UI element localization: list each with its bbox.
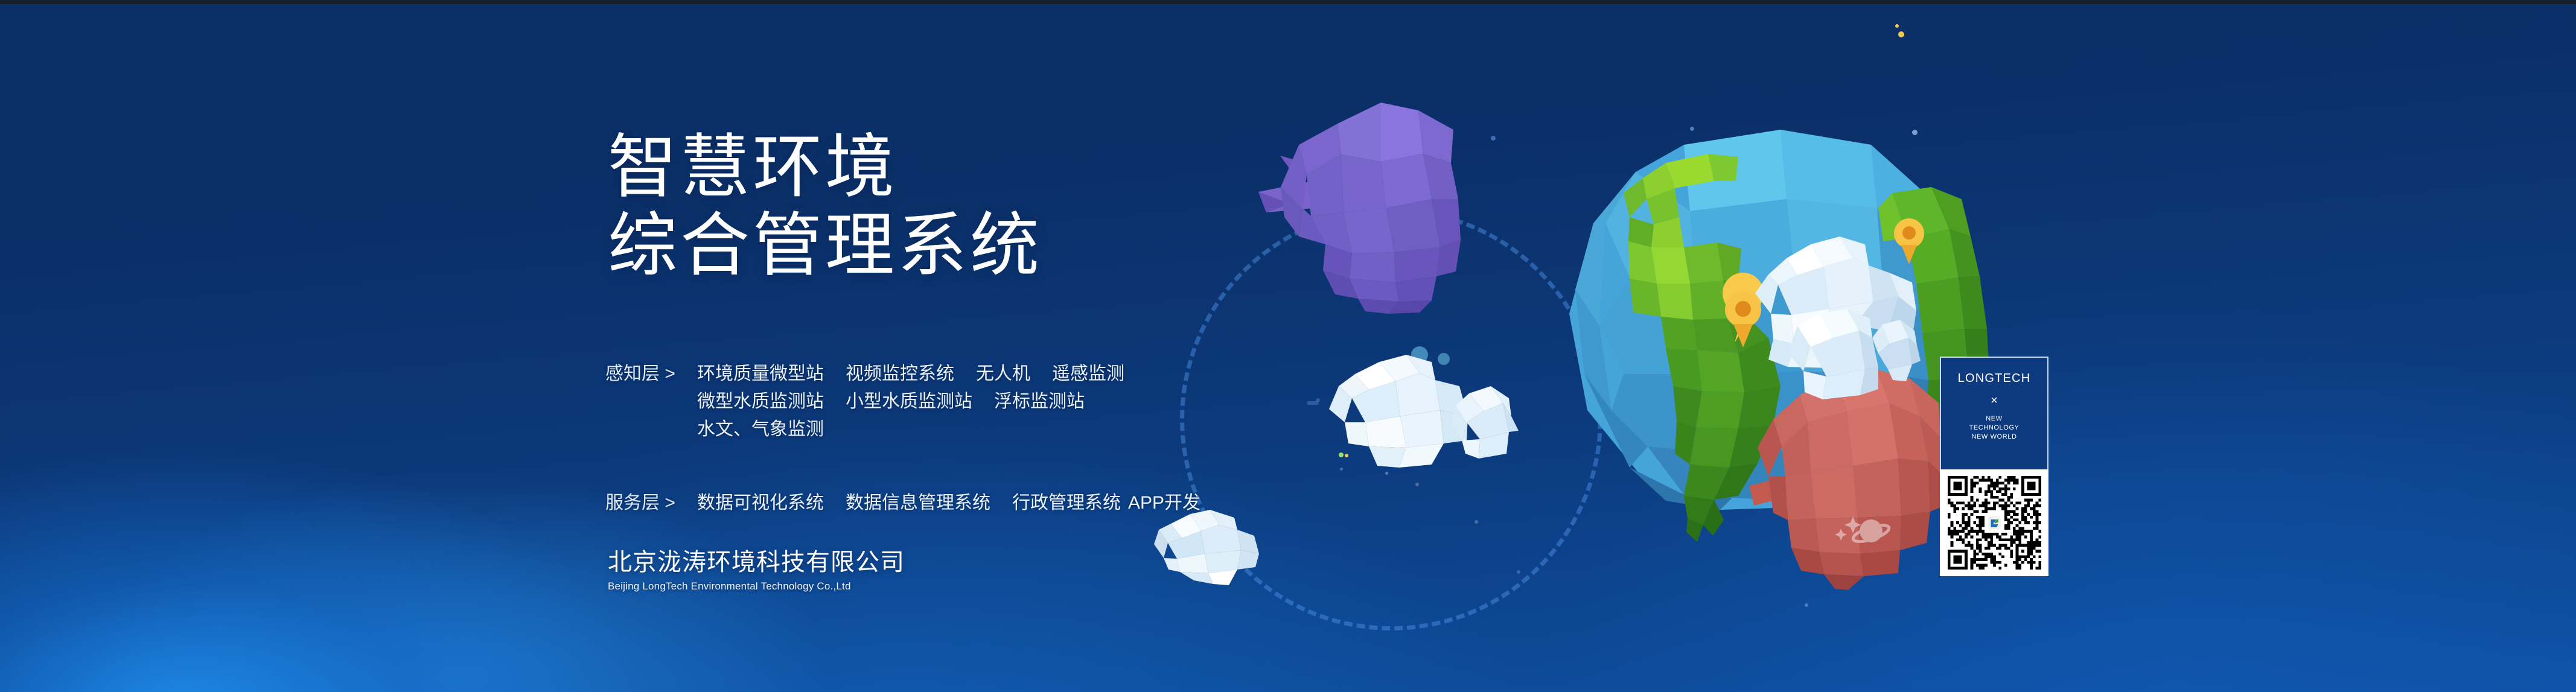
- layer-row-perception: 感知层 > 环境质量微型站 视频监控系统 无人机 遥感监测 微型水质监测站 小型…: [605, 360, 1200, 443]
- layer-item[interactable]: 遥感监测: [1052, 360, 1124, 388]
- layer-item-line: 水文、气象监测: [697, 416, 1124, 443]
- qr-code-area[interactable]: [1940, 469, 2048, 576]
- layer-item[interactable]: 数据可视化系统: [697, 489, 824, 517]
- layer-item[interactable]: 水文、气象监测: [697, 416, 824, 443]
- qr-tagline-line-3: NEW WORLD: [1969, 433, 2019, 442]
- hero-copy: 智慧环境 综合管理系统: [608, 128, 1042, 285]
- layer-item[interactable]: 数据信息管理系统: [846, 489, 990, 517]
- layer-row-service: 服务层 > 数据可视化系统 数据信息管理系统 行政管理系统 APP开发: [605, 489, 1200, 517]
- layer-items-service: 数据可视化系统 数据信息管理系统 行政管理系统 APP开发: [697, 489, 1200, 517]
- company-block: 北京泷涛环境科技有限公司 Beijing LongTech Environmen…: [608, 548, 905, 594]
- layer-item[interactable]: 浮标监测站: [994, 388, 1085, 416]
- hero-banner: 智慧环境 综合管理系统 感知层 > 环境质量微型站 视频监控系统 无人机 遥感监…: [0, 0, 2576, 692]
- layer-item[interactable]: 微型水质监测站: [697, 388, 824, 416]
- page-title-line-2: 综合管理系统: [608, 206, 1042, 285]
- page-title-line-1: 智慧环境: [608, 128, 1042, 206]
- layer-item[interactable]: 环境质量微型站: [697, 360, 824, 388]
- qr-tagline: NEW TECHNOLOGY NEW WORLD: [1969, 414, 2019, 442]
- cloud-bottom-left: [1154, 510, 1259, 585]
- layer-label-service: 服务层 >: [605, 489, 697, 517]
- purple-planet: [1258, 103, 1461, 314]
- layer-item[interactable]: 无人机: [976, 360, 1030, 388]
- qr-brand-label: LONGTECH: [1958, 371, 2031, 386]
- layer-items-perception: 环境质量微型站 视频监控系统 无人机 遥感监测 微型水质监测站 小型水质监测站 …: [697, 360, 1124, 443]
- layer-item[interactable]: 行政管理系统: [1012, 489, 1121, 517]
- qr-separator-icon: ×: [1991, 394, 1998, 407]
- company-name-cn: 北京泷涛环境科技有限公司: [608, 548, 905, 577]
- layer-item[interactable]: 视频监控系统: [846, 360, 954, 388]
- qr-tagline-line-1: NEW: [1969, 414, 2019, 424]
- layer-item-line: 数据可视化系统 数据信息管理系统 行政管理系统 APP开发: [697, 489, 1200, 517]
- layer-item[interactable]: 小型水质监测站: [846, 388, 972, 416]
- page-title: 智慧环境 综合管理系统: [608, 128, 1042, 285]
- qr-card-header: LONGTECH × NEW TECHNOLOGY NEW WORLD: [1940, 357, 2048, 469]
- layer-item-line: 环境质量微型站 视频监控系统 无人机 遥感监测: [697, 360, 1124, 388]
- layer-item-line: 微型水质监测站 小型水质监测站 浮标监测站: [697, 388, 1124, 416]
- layer-list: 感知层 > 环境质量微型站 视频监控系统 无人机 遥感监测 微型水质监测站 小型…: [605, 360, 1200, 517]
- qr-code-icon[interactable]: [1948, 476, 2041, 570]
- layer-item[interactable]: APP开发: [1128, 489, 1200, 517]
- qr-tagline-line-2: TECHNOLOGY: [1969, 424, 2019, 433]
- qr-card[interactable]: LONGTECH × NEW TECHNOLOGY NEW WORLD: [1940, 357, 2048, 576]
- cloud-left: [1329, 355, 1519, 468]
- space-illustration: [0, 0, 2576, 692]
- layer-label-perception: 感知层 >: [605, 360, 697, 388]
- company-name-en: Beijing LongTech Environmental Technolog…: [608, 579, 905, 594]
